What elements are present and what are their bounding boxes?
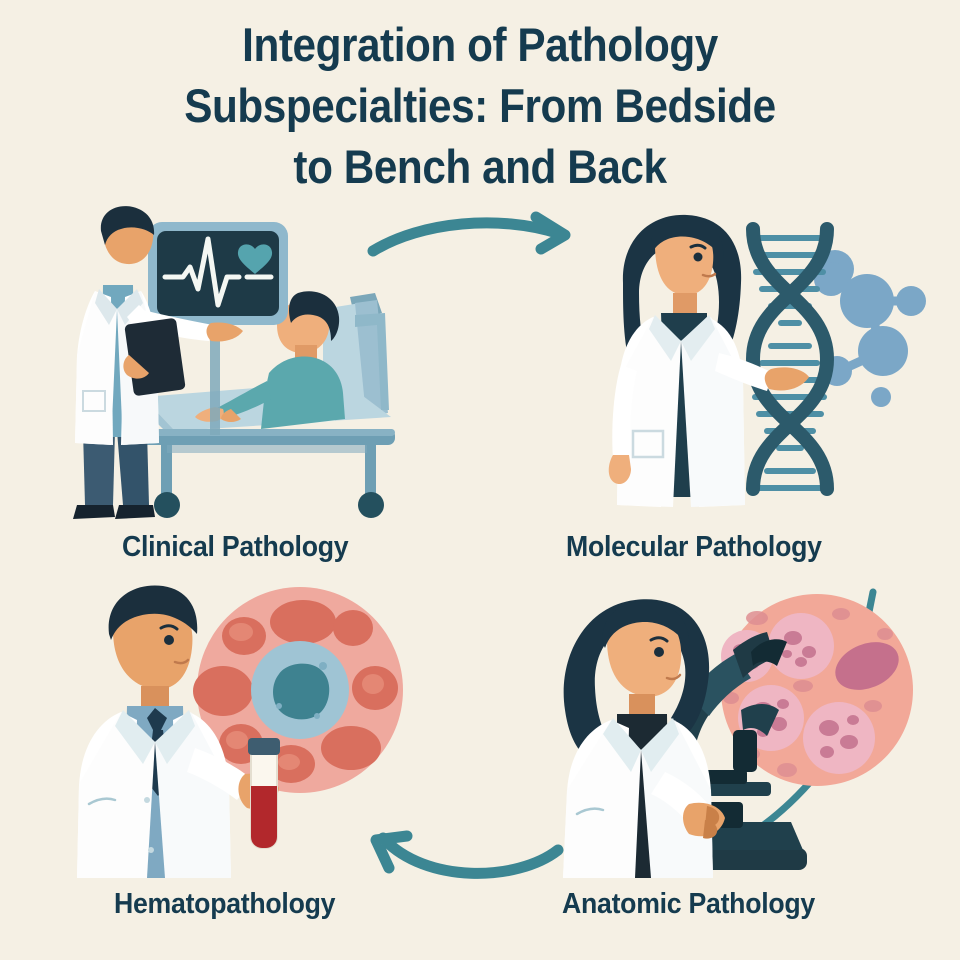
- blood-sample-tube-icon: [248, 738, 280, 848]
- title-line-2: Subspecialties: From Bedside: [48, 75, 912, 136]
- molecule-model-icon: [814, 250, 926, 407]
- title-line-3: to Bench and Back: [48, 136, 912, 197]
- infographic-canvas: Integration of Pathology Subspecialties:…: [0, 0, 960, 960]
- quadrant-anatomic-pathology: [555, 578, 935, 878]
- title-line-1: Integration of Pathology: [48, 14, 912, 75]
- label-molecular-pathology: Molecular Pathology: [566, 531, 822, 564]
- anatomic-pathologist-illustration: [563, 599, 725, 878]
- page-title: Integration of Pathology Subspecialties:…: [48, 14, 912, 197]
- label-anatomic-pathology: Anatomic Pathology: [562, 888, 815, 921]
- quadrant-molecular-pathology: [595, 205, 945, 535]
- label-hematopathology: Hematopathology: [114, 888, 335, 921]
- dna-helix-icon: [753, 229, 827, 489]
- label-clinical-pathology: Clinical Pathology: [122, 531, 348, 564]
- arrow-clinical-to-molecular: [360, 205, 610, 305]
